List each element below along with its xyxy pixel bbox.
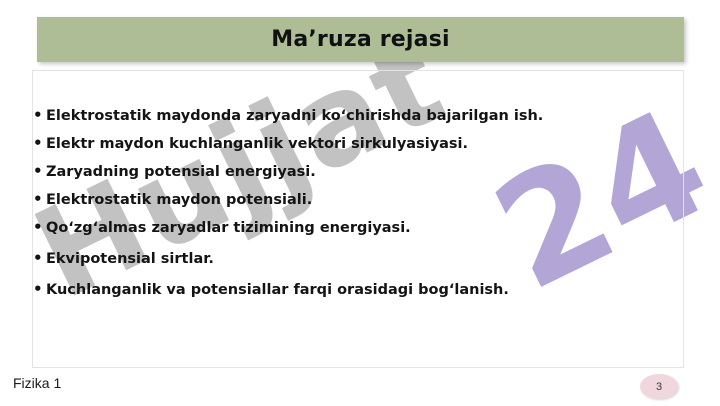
list-item: • Elektrostatik maydon potensiali. — [33, 192, 673, 220]
list-item-label: Qo‘zg‘almas zaryadlar tizimining energiy… — [46, 220, 411, 236]
list-item-label: Zaryadning potensial energiyasi. — [46, 164, 316, 180]
slide-canvas: Hujjat 24 Ma’ruza rejasi • Elektrostatik… — [0, 0, 720, 406]
bullet-dot-icon: • — [33, 164, 46, 179]
slide-title-bar: Ma’ruza rejasi — [37, 17, 684, 62]
list-item: • Ekvipotensial sirtlar. — [33, 251, 673, 282]
list-item: • Zaryadning potensial energiyasi. — [33, 164, 673, 192]
list-item: • Kuchlanganlik va potensiallar farqi or… — [33, 282, 673, 313]
list-item-label: Elektrostatik maydonda zaryadni ko‘chiri… — [46, 108, 543, 124]
bullet-dot-icon: • — [33, 251, 46, 266]
page-number-badge: 3 — [640, 374, 678, 399]
bullet-dot-icon: • — [33, 220, 46, 235]
bullet-dot-icon: • — [33, 192, 46, 207]
bullet-dot-icon: • — [33, 282, 46, 297]
list-item: • Elektr maydon kuchlanganlik vektori si… — [33, 136, 673, 164]
list-item: • Elektrostatik maydonda zaryadni ko‘chi… — [33, 108, 673, 136]
list-item-label: Elektrostatik maydon potensiali. — [46, 192, 312, 208]
list-item: • Qo‘zg‘almas zaryadlar tizimining energ… — [33, 220, 673, 251]
list-item-label: Elektr maydon kuchlanganlik vektori sirk… — [46, 136, 468, 152]
lecture-plan-list: • Elektrostatik maydonda zaryadni ko‘chi… — [33, 108, 673, 313]
list-item-label: Ekvipotensial sirtlar. — [46, 251, 214, 267]
list-item-label: Kuchlanganlik va potensiallar farqi oras… — [46, 282, 509, 298]
bullet-dot-icon: • — [33, 108, 46, 123]
bullet-dot-icon: • — [33, 136, 46, 151]
page-number-text: 3 — [656, 381, 662, 393]
page-title: Ma’ruza rejasi — [271, 27, 450, 52]
footer-course-label: Fizika 1 — [13, 375, 61, 391]
